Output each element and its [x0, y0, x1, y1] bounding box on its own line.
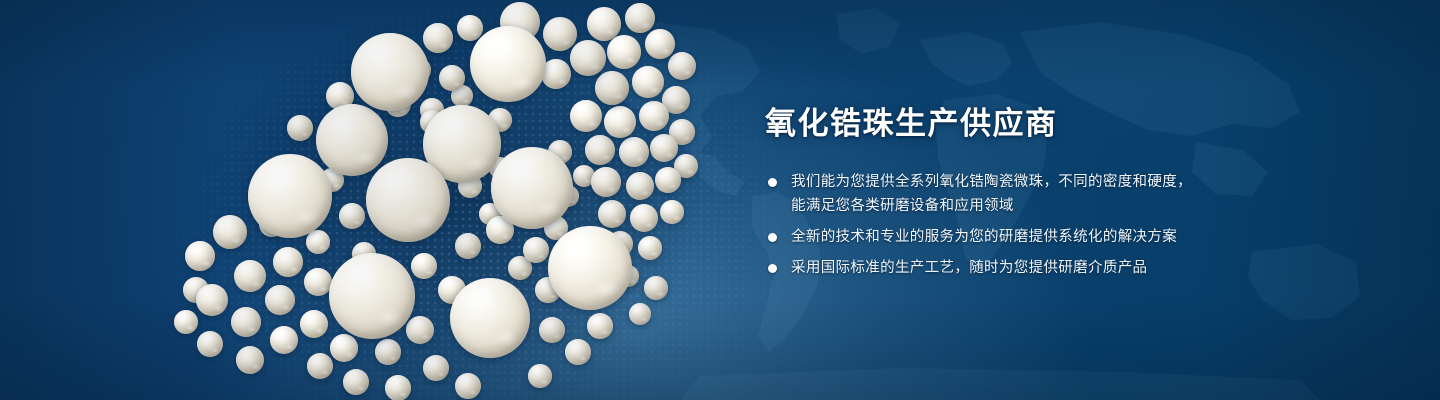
bullet-item: 全新的技术和专业的服务为您的研磨提供系统化的解决方案 [765, 225, 1365, 249]
bullet-dot-icon [768, 178, 777, 187]
bullet-dot-icon [768, 264, 777, 273]
bullet-item: 采用国际标准的生产工艺，随时为您提供研磨介质产品 [765, 256, 1365, 280]
bullet-line-1: 采用国际标准的生产工艺，随时为您提供研磨介质产品 [791, 256, 1365, 280]
banner-title: 氧化锆珠生产供应商 [765, 104, 1365, 144]
bullet-line-1: 我们能为您提供全系列氧化锆陶瓷微珠，不同的密度和硬度， [791, 170, 1365, 194]
bullet-dot-icon [768, 233, 777, 242]
hero-banner: 氧化锆珠生产供应商 我们能为您提供全系列氧化锆陶瓷微珠，不同的密度和硬度， 能满… [0, 0, 1440, 400]
banner-bullet-list: 我们能为您提供全系列氧化锆陶瓷微珠，不同的密度和硬度， 能满足您各类研磨设备和应… [765, 170, 1365, 280]
bullet-item: 我们能为您提供全系列氧化锆陶瓷微珠，不同的密度和硬度， 能满足您各类研磨设备和应… [765, 170, 1365, 218]
bullet-line-1: 全新的技术和专业的服务为您的研磨提供系统化的解决方案 [791, 225, 1365, 249]
banner-text-block: 氧化锆珠生产供应商 我们能为您提供全系列氧化锆陶瓷微珠，不同的密度和硬度， 能满… [765, 104, 1365, 280]
bullet-line-2: 能满足您各类研磨设备和应用领域 [791, 194, 1365, 218]
